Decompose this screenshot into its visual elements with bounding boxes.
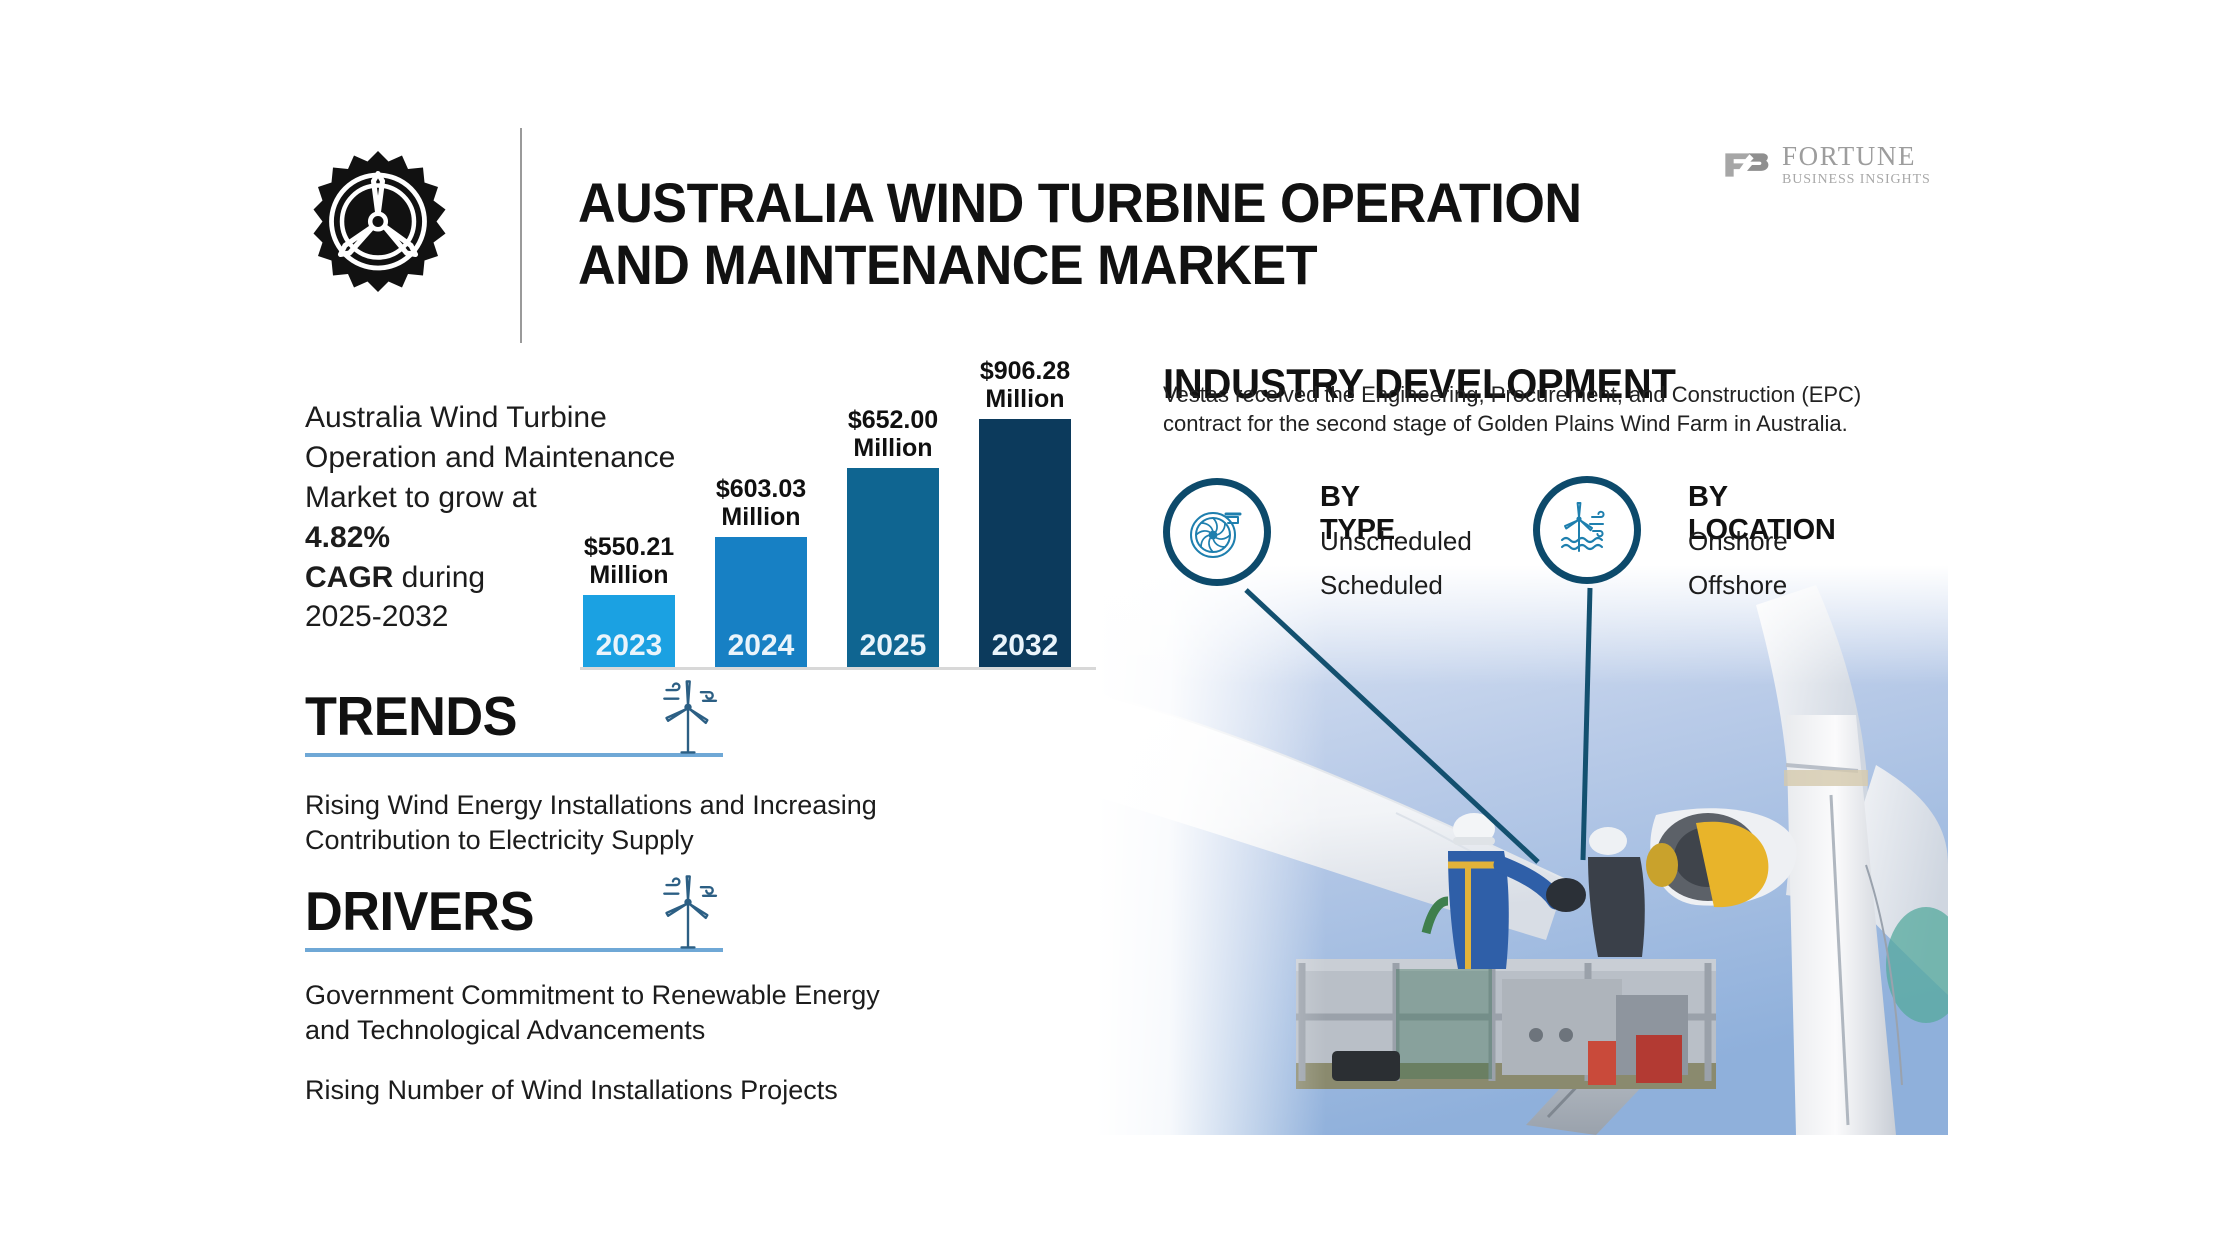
forecast-period: 2025-2032 xyxy=(305,600,448,633)
drivers-heading: DRIVERS xyxy=(305,885,546,937)
drivers-body-line-2: and Technological Advancements xyxy=(305,1015,705,1045)
bar-value-label: $652.00 Million xyxy=(831,406,955,462)
segment-by-location-circle xyxy=(1533,476,1641,584)
drivers-body: Government Commitment to Renewable Energ… xyxy=(305,978,1005,1048)
drivers-body-line-1: Government Commitment to Renewable Energ… xyxy=(305,980,880,1010)
intro-line-3: Market to grow at xyxy=(305,481,537,514)
bar-value-label: $550.21 Million xyxy=(567,533,691,589)
during-word: during xyxy=(393,561,485,594)
gear-wind-turbine-icon xyxy=(303,148,453,298)
bar-year-label: 2025 xyxy=(847,629,939,663)
title-divider xyxy=(520,128,522,343)
brand-name: FORTUNE xyxy=(1782,143,1931,170)
bar-column-2024: $603.03 Million 2024 xyxy=(715,537,807,667)
trends-heading: TRENDS xyxy=(305,690,528,742)
bar-column-2025: $652.00 Million 2025 xyxy=(847,468,939,667)
bar-year-label: 2024 xyxy=(715,629,807,663)
turbine-maintenance-photo xyxy=(1096,565,1948,1135)
bar-year-label: 2023 xyxy=(583,629,675,663)
trends-body-line-2: Contribution to Electricity Supply xyxy=(305,825,694,855)
segment-by-type-item-1: Scheduled xyxy=(1320,570,1443,601)
industry-development-line-2: contract for the second stage of Golden … xyxy=(1163,411,1848,436)
trends-body: Rising Wind Energy Installations and Inc… xyxy=(305,788,1005,858)
bar-value-label: $906.28 Million xyxy=(963,357,1087,413)
bar-2024: 2024 xyxy=(715,537,807,667)
bar-column-2032: $906.28 Million 2032 xyxy=(979,419,1071,667)
bar-2032: 2032 xyxy=(979,419,1071,667)
bar-2025: 2025 xyxy=(847,468,939,667)
trends-body-line-1: Rising Wind Energy Installations and Inc… xyxy=(305,790,877,820)
wind-turbine-icon xyxy=(645,870,731,956)
brand-logo: FORTUNE BUSINESS INSIGHTS xyxy=(1722,142,1942,188)
market-bar-chart: $550.21 Million 2023 $603.03 Million 202… xyxy=(575,330,1145,670)
bar-value-label: $603.03 Million xyxy=(699,475,823,531)
drivers-heading-label: DRIVERS xyxy=(305,885,534,937)
bar-year-label: 2032 xyxy=(979,629,1071,663)
infographic-canvas: AUSTRALIA WIND TURBINE OPERATION AND MAI… xyxy=(0,0,2240,1260)
cagr-value: 4.82% xyxy=(305,521,390,554)
segment-by-type-circle xyxy=(1163,478,1271,586)
segment-by-type-item-0: Unscheduled xyxy=(1320,526,1472,557)
bar-2023: 2023 xyxy=(583,595,675,667)
chart-axis-line xyxy=(580,667,1140,670)
wind-turbine-icon xyxy=(645,675,731,761)
industry-development-body: Vestas received the Engineering, Procure… xyxy=(1163,380,1888,439)
offshore-wind-turbine-icon xyxy=(1552,495,1622,565)
page-title: AUSTRALIA WIND TURBINE OPERATION AND MAI… xyxy=(578,172,1620,297)
brand-subtitle: BUSINESS INSIGHTS xyxy=(1782,173,1931,187)
cagr-label: CAGR xyxy=(305,561,393,594)
industry-development-line-1: Vestas received the Engineering, Procure… xyxy=(1163,382,1861,407)
intro-line-1: Australia Wind Turbine xyxy=(305,401,607,434)
bar-column-2023: $550.21 Million 2023 xyxy=(583,595,675,667)
drivers-body-extra: Rising Number of Wind Installations Proj… xyxy=(305,1073,1005,1108)
trends-heading-label: TRENDS xyxy=(305,690,517,742)
fb-monogram-icon xyxy=(1722,148,1772,182)
segment-by-location-item-1: Offshore xyxy=(1688,570,1787,601)
turbine-fan-icon xyxy=(1182,497,1252,567)
segment-by-location-item-0: Onshore xyxy=(1688,526,1788,557)
drivers-body-line-3: Rising Number of Wind Installations Proj… xyxy=(305,1075,838,1105)
